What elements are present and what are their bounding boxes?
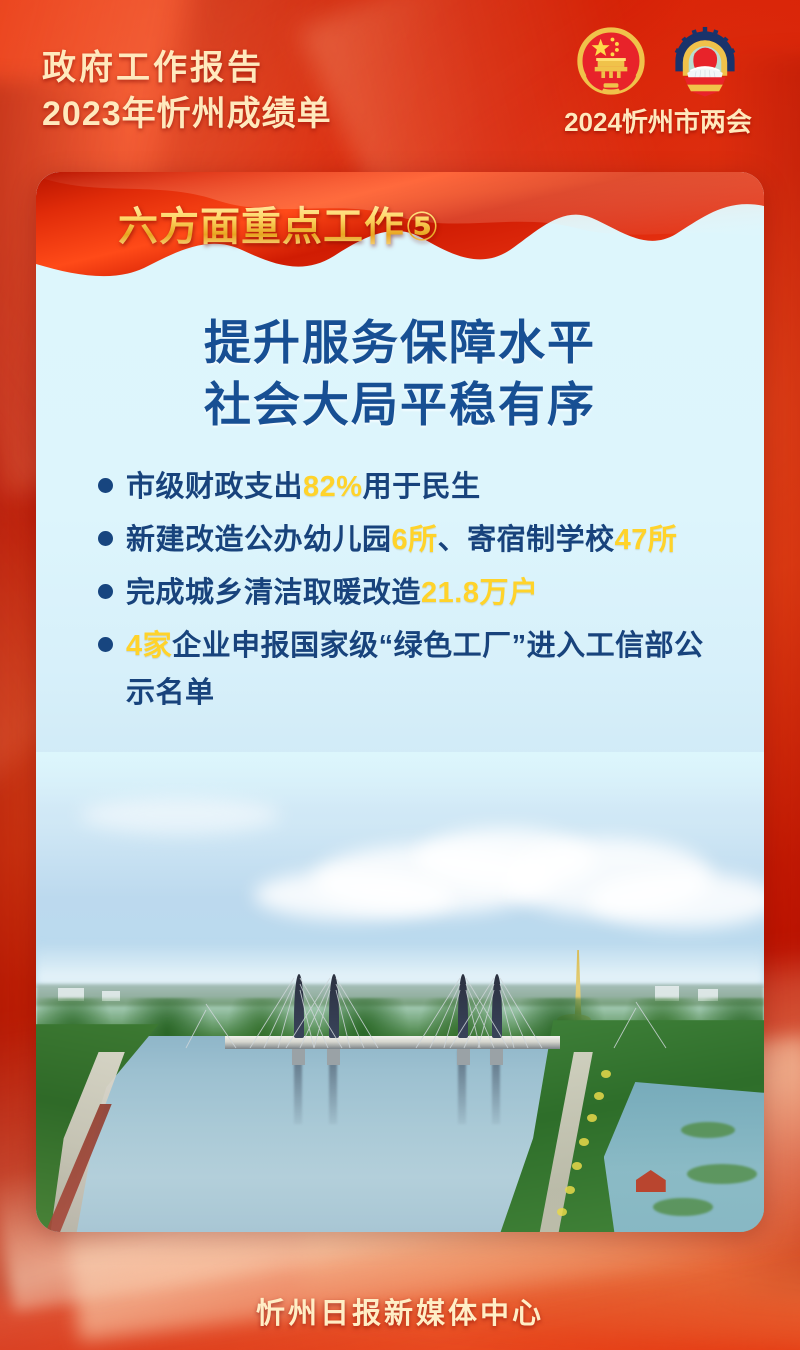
- section-banner-label: 六方面重点工作⑤: [118, 194, 440, 252]
- header-title-block: 政府工作报告 2023年忻州成绩单: [42, 48, 332, 136]
- report-subtitle: 2023年忻州成绩单: [42, 94, 332, 135]
- poster-root: 政府工作报告 2023年忻州成绩单: [0, 0, 800, 1350]
- bullet-text: 完成城乡清洁取暖改造21.8万户: [126, 570, 708, 617]
- national-emblem-icon: [574, 24, 648, 98]
- cppcc-emblem-icon: [668, 24, 742, 98]
- city-aerial-photo: [36, 752, 764, 1232]
- emblem-row: [548, 22, 768, 100]
- bullet-dot-icon: [98, 478, 113, 493]
- footer-credit: 忻州日报新媒体中心: [0, 1290, 800, 1332]
- bullet-text-segment: 、寄宿制学校: [438, 524, 615, 556]
- report-title: 政府工作报告: [42, 48, 332, 89]
- bullet-dot-icon: [98, 531, 113, 546]
- bullet-text: 新建改造公办幼儿园6所、寄宿制学校47所: [126, 517, 708, 564]
- headline-line-2: 社会大局平稳有序: [36, 374, 764, 436]
- bridge-cables: [36, 752, 764, 1232]
- bullet-text: 4家企业申报国家级“绿色工厂”进入工信部公示名单: [126, 623, 708, 717]
- bullet-highlight-value: 82%: [303, 471, 363, 503]
- bullet-text-segment: 完成城乡清洁取暖改造: [126, 577, 421, 609]
- bullet-item: 4家企业申报国家级“绿色工厂”进入工信部公示名单: [98, 623, 708, 717]
- bullet-text: 市级财政支出82%用于民生: [126, 464, 708, 511]
- bullet-item: 市级财政支出82%用于民生: [98, 464, 708, 511]
- bullet-item: 完成城乡清洁取暖改造21.8万户: [98, 570, 708, 617]
- headline-line-1: 提升服务保障水平: [36, 312, 764, 374]
- bullet-text-segment: 市级财政支出: [126, 471, 303, 503]
- bullet-dot-icon: [98, 637, 113, 652]
- bullet-highlight-value: 6所: [392, 524, 438, 556]
- bullet-highlight-value: 47所: [615, 524, 678, 556]
- photo-top-fade: [36, 752, 764, 808]
- bullet-highlight-value: 21.8万户: [421, 577, 538, 609]
- bullet-highlight-value: 4家: [126, 630, 172, 662]
- bullet-text-segment: 用于民生: [363, 471, 481, 503]
- emblem-caption: 2024忻州市两会: [548, 102, 768, 139]
- bullet-item: 新建改造公办幼儿园6所、寄宿制学校47所: [98, 517, 708, 564]
- poster-header: 政府工作报告 2023年忻州成绩单: [0, 0, 800, 172]
- bullet-text-segment: 企业申报国家级“绿色工厂”进入工信部公示名单: [126, 630, 704, 709]
- bullet-dot-icon: [98, 584, 113, 599]
- emblem-group: 2024忻州市两会: [548, 22, 768, 139]
- card-headline: 提升服务保障水平 社会大局平稳有序: [36, 312, 764, 436]
- bullet-text-segment: 新建改造公办幼儿园: [126, 524, 392, 556]
- achievement-bullet-list: 市级财政支出82%用于民生新建改造公办幼儿园6所、寄宿制学校47所完成城乡清洁取…: [98, 464, 708, 723]
- content-card: 六方面重点工作⑤ 提升服务保障水平 社会大局平稳有序 市级财政支出82%用于民生…: [36, 172, 764, 1232]
